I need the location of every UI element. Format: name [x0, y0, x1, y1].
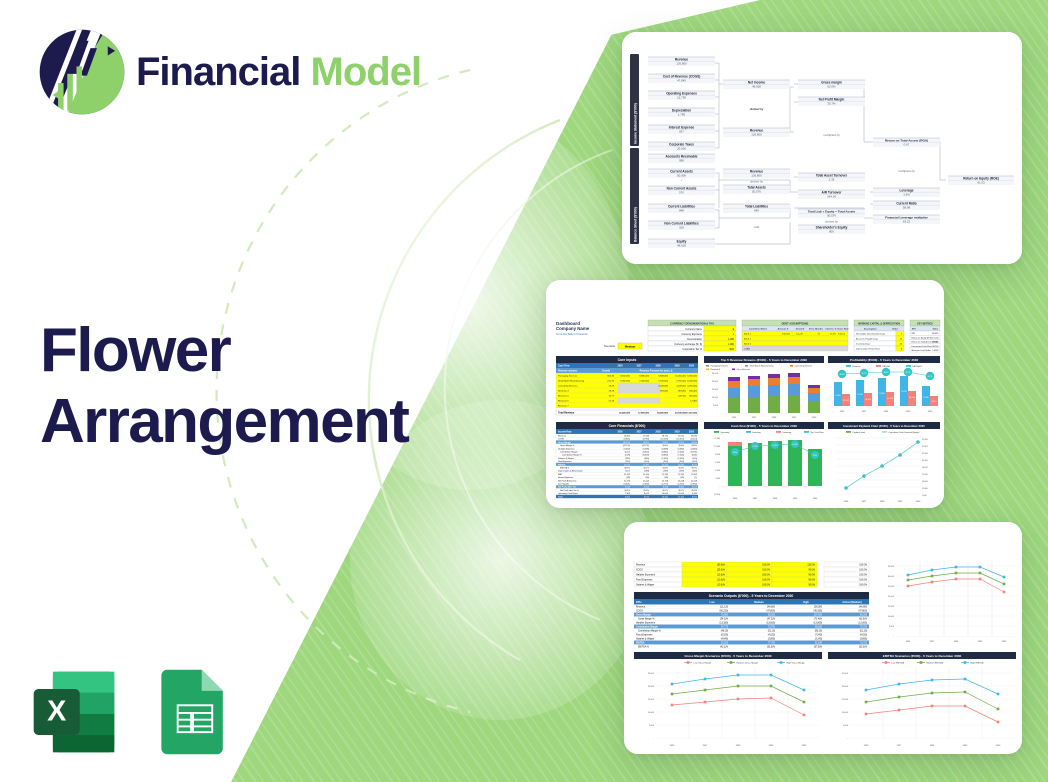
svg-text:Tax Payable: Tax Payable: [558, 484, 570, 486]
svg-text:(8,210): (8,210): [691, 439, 698, 441]
svg-text:11,218: 11,218: [691, 480, 698, 482]
svg-text:Investing: Investing: [753, 431, 761, 434]
svg-text:(73.4)%: (73.4)%: [814, 619, 822, 621]
svg-text:(45,290): (45,290): [813, 611, 822, 613]
svg-text:8,404: 8,404: [733, 452, 737, 454]
svg-text:25,000: 25,000: [712, 373, 719, 375]
svg-text:(38): (38): [680, 477, 684, 479]
svg-text:multiplied by: multiplied by: [898, 169, 915, 173]
svg-text:COGS: COGS: [636, 570, 643, 572]
excel-icon[interactable]: X: [26, 664, 122, 760]
svg-text:(2,302): (2,302): [643, 484, 650, 486]
svg-text:Term, Months: Term, Months: [809, 328, 824, 331]
svg-text:77,700: 77,700: [768, 643, 776, 645]
svg-text:31,000: 31,000: [922, 460, 928, 462]
svg-text:KEY METRICS: KEY METRICS: [917, 323, 933, 325]
svg-text:1,000: 1,000: [922, 495, 927, 497]
svg-text:10,209: 10,209: [792, 444, 797, 446]
svg-text:(8,680): (8,680): [662, 455, 669, 457]
svg-text:47,000: 47,000: [922, 446, 928, 448]
svg-text:Add: Add: [753, 225, 760, 229]
svg-text:58.98: 58.98: [903, 206, 911, 210]
svg-text:59.6%: 59.6%: [662, 442, 668, 444]
svg-text:High Gross Margin: High Gross Margin: [787, 662, 806, 665]
svg-text:(285): (285): [692, 471, 697, 473]
svg-text:20,110: 20,110: [901, 391, 906, 393]
svg-text:Total: Total: [558, 496, 563, 499]
svg-text:Revenue: Revenue: [636, 607, 646, 609]
svg-text:(10.0)%: (10.0)%: [717, 585, 725, 587]
svg-text:Gross Margin %: Gross Margin %: [638, 618, 654, 621]
svg-text:(60,230): (60,230): [719, 611, 728, 613]
svg-text:divided by: divided by: [750, 179, 764, 183]
svg-text:12,103: 12,103: [662, 464, 669, 466]
svg-text:9,680,000: 9,680,000: [639, 376, 650, 378]
svg-text:800: 800: [829, 230, 834, 234]
svg-text:26,000: 26,000: [922, 467, 928, 469]
svg-text:Payback point: Payback point: [853, 431, 866, 434]
svg-text:8,002: 8,002: [692, 497, 698, 499]
svg-text:(920): (920): [663, 461, 668, 463]
svg-text:43.0%: 43.0%: [691, 442, 697, 444]
svg-text:9,010: 9,010: [644, 497, 650, 499]
svg-text:Revenue 5: Revenue 5: [558, 396, 569, 398]
svg-text:Scenario Outputs ($'000) - 5 Y: Scenario Outputs ($'000) - 5 Years to De…: [709, 594, 794, 598]
svg-text:Receivable Denomination Days: Receivable Denomination Days: [856, 333, 885, 336]
svg-text:25,000: 25,000: [888, 586, 895, 588]
svg-text:10,000: 10,000: [842, 712, 849, 714]
svg-text:80,300: 80,300: [860, 615, 868, 617]
svg-text:52,005: 52,005: [721, 643, 729, 645]
svg-text:(7,004): (7,004): [678, 452, 685, 454]
svg-text:(41.1%): (41.1%): [623, 445, 630, 447]
svg-text:EBITDA %: EBITDA %: [638, 646, 649, 649]
svg-text:Inventory Days: Inventory Days: [856, 343, 870, 346]
svg-text:7,130,000: 7,130,000: [658, 381, 669, 383]
svg-text:63.22: 63.22: [903, 220, 911, 224]
svg-text:2027: 2027: [636, 366, 642, 368]
svg-text:(0,08): (0,08): [625, 455, 631, 457]
svg-text:144.24: 144.24: [827, 195, 836, 199]
svg-text:(8,01): (8,01): [692, 455, 698, 457]
svg-text:10,000: 10,000: [712, 397, 719, 399]
svg-text:11,170: 11,170: [624, 480, 631, 482]
svg-text:Gross Margin: Gross Margin: [636, 615, 651, 617]
svg-text:Low EBITDA: Low EBITDA: [892, 662, 905, 665]
svg-text:35.1%: 35.1%: [643, 468, 649, 470]
svg-text:36.7%: 36.7%: [662, 490, 668, 492]
svg-text:20,100,000: 20,100,000: [675, 413, 687, 415]
svg-text:1,785: 1,785: [678, 113, 686, 117]
svg-text:(13,060): (13,060): [858, 623, 867, 625]
svg-text:480,000: 480,000: [689, 396, 698, 398]
svg-text:(9,012): (9,012): [931, 401, 937, 403]
svg-text:-: -: [681, 118, 682, 121]
svg-text:(7,004): (7,004): [678, 455, 685, 457]
svg-text:8,012: 8,012: [692, 487, 698, 489]
svg-text:Net Cash Flow: Net Cash Flow: [811, 431, 825, 434]
svg-text:Small Batch Manufacturing: Small Batch Manufacturing: [558, 380, 585, 383]
svg-text:Variable Expenses: Variable Expenses: [558, 448, 575, 450]
svg-text:(4,020): (4,020): [768, 635, 776, 637]
svg-text:46,828: 46,828: [752, 85, 761, 89]
svg-text:100.0%: 100.0%: [859, 565, 867, 567]
svg-text:100,000: 100,000: [782, 334, 791, 336]
svg-text:(3,402): (3,402): [624, 448, 631, 450]
svg-text:7,302: 7,302: [625, 493, 631, 495]
svg-text:36.7%: 36.7%: [678, 490, 684, 492]
svg-text:(12,012): (12,012): [843, 400, 850, 402]
financial-ratio-tree-card[interactable]: Income Statement ($'000) Balance Sheet (…: [622, 32, 1022, 264]
svg-text:Revenue 7: Revenue 7: [558, 406, 569, 408]
svg-text:36.7%: 36.7%: [927, 376, 932, 378]
svg-text:(1,020): (1,020): [678, 458, 685, 460]
svg-text:Active (Medium): Active (Medium): [842, 601, 861, 604]
svg-text:949: 949: [754, 209, 759, 213]
svg-text:Income Statement ($'000): Income Statement ($'000): [634, 103, 638, 144]
svg-text:(217): (217): [625, 471, 630, 473]
svg-text:570: 570: [679, 191, 684, 195]
svg-text:(188): (188): [644, 471, 649, 473]
svg-text:16,000: 16,000: [922, 481, 928, 483]
svg-text:Low Gross Margin: Low Gross Margin: [694, 662, 713, 665]
svg-text:11,228: 11,228: [678, 480, 685, 482]
svg-text:(2,520): (2,520): [678, 484, 685, 486]
financial-dashboard-card[interactable]: Dashboard Company Name Go to the Table o…: [546, 280, 944, 508]
svg-text:(56,19): (56,19): [815, 631, 823, 633]
svg-text:Net Profit Before Tax: Net Profit Before Tax: [558, 479, 576, 482]
svg-text:20,026: 20,026: [677, 147, 686, 151]
svg-text:5,000: 5,000: [713, 405, 719, 407]
svg-text:CURRENCY DENOMINATION & TAX: CURRENCY DENOMINATION & TAX: [670, 321, 714, 325]
svg-text:6,000: 6,000: [715, 462, 720, 464]
svg-text:Profitability ($'000) - 5 Year: Profitability ($'000) - 5 Years to Decem…: [850, 358, 919, 362]
svg-text:8,013: 8,013: [625, 487, 631, 489]
svg-text:Small Batch Manufacturing: Small Batch Manufacturing: [750, 365, 774, 368]
svg-text:(13,060): (13,060): [766, 623, 775, 625]
svg-text:(8,624): (8,624): [643, 452, 650, 454]
svg-text:100.0%: 100.0%: [762, 580, 770, 582]
svg-text:(51,10): (51,10): [768, 631, 776, 633]
svg-text:15,000: 15,000: [888, 606, 895, 608]
svg-text:11,802: 11,802: [691, 474, 698, 476]
poster-canvas: Financial Model Flower Arrangement X: [0, 0, 1048, 782]
svg-text:100.0%: 100.0%: [762, 570, 770, 572]
svg-text:Fixed Expenses: Fixed Expenses: [636, 635, 653, 637]
svg-text:35,000: 35,000: [888, 566, 895, 568]
svg-text:35.9%: 35.9%: [905, 372, 910, 374]
svg-text:Medium: Medium: [754, 601, 764, 604]
svg-text:90.0%: 90.0%: [808, 570, 815, 572]
svg-text:(47,800): (47,800): [858, 611, 867, 613]
svg-text:WORKING CAPITAL & DEPRECIATION: WORKING CAPITAL & DEPRECIATION: [858, 322, 900, 325]
svg-text:2029: 2029: [674, 432, 680, 434]
svg-text:12,900: 12,900: [690, 401, 697, 403]
svg-text:17,560: 17,560: [643, 436, 650, 438]
svg-text:49,629: 49,629: [677, 244, 686, 248]
svg-text:5,000: 5,000: [889, 626, 895, 628]
svg-text:Amount, $: Amount, $: [778, 328, 789, 331]
svg-text:21,000: 21,000: [922, 474, 928, 476]
svg-text:(1,020): (1,020): [662, 458, 669, 460]
svg-text:Fixed Expenses: Fixed Expenses: [636, 580, 653, 582]
svg-text:(220): (220): [625, 461, 630, 463]
svg-text:61.03: 61.03: [933, 337, 939, 339]
svg-text:16,400,000: 16,400,000: [619, 412, 631, 415]
svg-text:17,800,000: 17,800,000: [638, 413, 650, 415]
brand-wordmark: Financial Model: [136, 52, 421, 92]
svg-text:34.0%: 34.0%: [662, 468, 668, 470]
svg-text:126,800: 126,800: [751, 133, 762, 137]
svg-text:Interest, %: Interest, %: [825, 328, 836, 331]
svg-text:(54.1)%: (54.1)%: [720, 619, 728, 621]
svg-text:2026: 2026: [617, 366, 623, 368]
svg-text:Depreciation Period Years: Depreciation Period Years: [856, 348, 880, 351]
svg-text:(3,382): (3,382): [678, 448, 685, 450]
svg-text:Low: Low: [710, 601, 715, 604]
svg-text:Gross Margin %: Gross Margin %: [560, 445, 575, 447]
svg-text:2029: 2029: [674, 366, 680, 368]
svg-text:LOAN: LOAN: [744, 348, 750, 351]
svg-text:1,0562: 1,0562: [932, 350, 939, 352]
svg-text:43.0%: 43.0%: [691, 445, 697, 447]
svg-text:903,000: 903,000: [660, 391, 669, 393]
svg-text:Bond 2: Bond 2: [744, 339, 752, 341]
svg-text:10,701: 10,701: [752, 446, 757, 448]
svg-text:5,000: 5,000: [843, 725, 849, 727]
svg-text:75,700: 75,700: [860, 643, 868, 645]
svg-text:(1): (1): [695, 477, 698, 479]
svg-text:-: -: [681, 135, 682, 138]
svg-text:5,000: 5,000: [649, 725, 655, 727]
svg-text:Revenue: Revenue: [636, 565, 646, 567]
svg-text:EBITDA: EBITDA: [883, 365, 891, 368]
svg-text:18,750: 18,750: [662, 436, 669, 438]
svg-text:Revenue 4: Revenue 4: [558, 391, 569, 393]
svg-text:35.1%: 35.1%: [861, 373, 866, 375]
svg-text:Salaries & Wages: Salaries & Wages: [558, 458, 574, 460]
svg-text:(4,020): (4,020): [860, 635, 868, 637]
svg-text:Company Name: Company Name: [556, 326, 590, 331]
svg-text:Consulting Services: Consulting Services: [558, 385, 578, 388]
svg-text:EBITDA %: EBITDA %: [560, 467, 570, 470]
svg-text:(40.0%): (40.0%): [623, 442, 630, 444]
svg-text:(980): (980): [644, 458, 649, 460]
svg-text:8,404: 8,404: [625, 497, 631, 499]
svg-text:17,560: 17,560: [857, 394, 862, 396]
svg-text:Revenue: Revenue: [853, 366, 862, 368]
scenario-analysis-card[interactable]: RevenueCOGS Variable ExpensesFixed Expen…: [624, 522, 1022, 754]
svg-text:X: X: [47, 696, 66, 728]
svg-text:10.0%: 10.0%: [830, 334, 836, 336]
svg-text:(220): (220): [644, 461, 649, 463]
svg-text:80,300: 80,300: [768, 615, 776, 617]
svg-text:Discounted Cash Flow: Discounted Cash Flow: [912, 345, 933, 348]
svg-text:16,400: 16,400: [624, 436, 631, 438]
svg-text:COGS: COGS: [558, 439, 565, 441]
svg-text:2030: 2030: [689, 366, 695, 368]
svg-text:(42,1)%: (42,1)%: [720, 647, 728, 649]
svg-text:100.0%: 100.0%: [762, 565, 770, 567]
svg-text:(52,0)%: (52,0)%: [767, 647, 775, 649]
svg-text:EBITDA Scenarios ($'000) - 5 Y: EBITDA Scenarios ($'000) - 5 Years to De…: [883, 654, 962, 658]
svg-text:110.0%: 110.0%: [807, 565, 815, 567]
svg-text:11,212: 11,212: [643, 480, 650, 482]
svg-text:(3,001): (3,001): [624, 484, 631, 486]
svg-text:20,000: 20,000: [842, 686, 849, 688]
google-sheets-icon[interactable]: [146, 664, 242, 760]
svg-text:High: High: [803, 601, 809, 604]
svg-text:Contribution Margin: Contribution Margin: [560, 451, 577, 454]
svg-text:45.6%: 45.6%: [662, 445, 668, 447]
svg-text:10,000: 10,000: [648, 712, 655, 714]
svg-text:IRR: IRR: [912, 333, 916, 335]
svg-text:126,800: 126,800: [676, 62, 687, 66]
svg-text:(57,0)%: (57,0)%: [814, 647, 822, 649]
svg-text:High EBITDA: High EBITDA: [971, 662, 985, 665]
svg-text:146,800: 146,800: [859, 607, 868, 609]
svg-text:60.1%: 60.1%: [643, 442, 649, 444]
svg-text:(3,698): (3,698): [662, 448, 669, 450]
svg-text:KPI: KPI: [912, 329, 916, 331]
svg-text:11,150: 11,150: [643, 474, 650, 476]
svg-text:Operating Cash Flows: Operating Cash Flows: [558, 492, 578, 495]
svg-text:Other Revenue: Other Revenue: [737, 368, 751, 371]
svg-text:(3,280): (3,280): [691, 448, 698, 450]
svg-text:Revenue: Revenue: [558, 436, 567, 438]
svg-text:131,130: 131,130: [720, 607, 729, 609]
svg-text:(8,680): (8,680): [662, 452, 669, 454]
svg-text:Packaging Services: Packaging Services: [558, 375, 578, 378]
svg-text:11,290: 11,290: [678, 474, 685, 476]
svg-text:35.5%: 35.5%: [643, 490, 649, 492]
dashboard-graphic: Dashboard Company Name Go to the Table o…: [546, 280, 944, 508]
svg-text:25,000: 25,000: [648, 673, 655, 675]
svg-text:(920): (920): [692, 461, 697, 463]
svg-text:(920): (920): [679, 461, 684, 463]
svg-text:Interest: Interest: [838, 333, 846, 336]
svg-text:2028: 2028: [655, 366, 661, 368]
svg-text:Bond 3: Bond 3: [744, 344, 752, 346]
svg-text:22.18: 22.18: [609, 401, 615, 403]
svg-text:20,000: 20,000: [648, 686, 655, 688]
svg-text:47,840: 47,840: [677, 79, 686, 83]
svg-text:11,312: 11,312: [624, 474, 631, 476]
svg-text:(13,060): (13,060): [813, 623, 822, 625]
svg-text:57,770: 57,770: [721, 627, 729, 629]
svg-text:Gross Margin Scenarios ($'000): Gross Margin Scenarios ($'000) - 5 Years…: [684, 654, 771, 658]
svg-text:11,030: 11,030: [678, 464, 685, 466]
svg-text:EBIT: EBIT: [558, 474, 563, 476]
svg-text:1,000: 1,000: [728, 338, 735, 341]
svg-text:12,012: 12,012: [624, 464, 631, 466]
svg-text:(289): (289): [663, 471, 668, 473]
svg-text:100.0%: 100.0%: [859, 585, 867, 587]
svg-text:8,450,000: 8,450,000: [620, 376, 631, 378]
svg-text:(63.0)%: (63.0)%: [859, 619, 867, 621]
svg-text:75,750: 75,750: [860, 627, 868, 629]
svg-text:45.6%: 45.6%: [678, 445, 684, 447]
svg-text:11,100: 11,100: [678, 497, 685, 499]
svg-text:(3,298): (3,298): [643, 448, 650, 450]
svg-text:8,000: 8,000: [715, 454, 720, 456]
svg-text:(11,301): (11,301): [865, 399, 872, 401]
svg-text:Revenue Forecast for years, $: Revenue Forecast for years, $: [640, 370, 673, 373]
svg-text:35.9%: 35.9%: [678, 468, 684, 470]
svg-text:500,000: 500,000: [689, 391, 698, 393]
svg-text:(2,932): (2,932): [691, 484, 698, 486]
svg-text:91,630: 91,630: [815, 643, 823, 645]
svg-text:(2,770): (2,770): [662, 484, 669, 486]
svg-text:(10,920): (10,920): [677, 439, 685, 441]
svg-text:Revenue 4: Revenue 4: [711, 369, 722, 371]
svg-text:20,000: 20,000: [712, 381, 719, 383]
svg-text:75,750: 75,750: [768, 627, 776, 629]
svg-text:Financing: Financing: [783, 432, 792, 434]
svg-text:(7,040): (7,040): [815, 635, 823, 637]
svg-text:(38): (38): [664, 477, 668, 479]
svg-text:(48,19): (48,19): [721, 631, 729, 633]
svg-text:(2,000): (2,000): [714, 494, 720, 496]
svg-text:(3,140): (3,140): [815, 639, 823, 641]
svg-text:(8,701): (8,701): [691, 452, 698, 454]
svg-text:36.7%: 36.7%: [691, 468, 697, 470]
svg-text:4,208,000: 4,208,000: [676, 386, 687, 388]
svg-text:15,000: 15,000: [842, 699, 849, 701]
svg-text:10,050,000: 10,050,000: [675, 376, 687, 378]
svg-text:37,000: 37,000: [922, 453, 928, 455]
svg-text:(47.2%): (47.2%): [642, 445, 649, 447]
svg-text:90.0%: 90.0%: [808, 585, 815, 587]
svg-text:8,340: 8,340: [692, 493, 698, 495]
svg-text:20,000: 20,000: [888, 596, 895, 598]
svg-text:Bond 1: Bond 1: [744, 334, 752, 336]
svg-text:Scenario: Scenario: [604, 344, 615, 348]
svg-text:(11,030): (11,030): [909, 397, 916, 399]
svg-text:16,400: 16,400: [835, 395, 840, 397]
svg-text:(25.0)%: (25.0)%: [717, 570, 725, 572]
svg-text:25,000: 25,000: [842, 673, 849, 675]
svg-text:Granted: Granted: [796, 328, 805, 331]
svg-text:4,000: 4,000: [715, 470, 720, 472]
svg-text:7,250,000: 7,250,000: [676, 381, 687, 383]
svg-text:Cumulative Cash Invested (Equi: Cumulative Cash Invested (Equity): [889, 431, 920, 434]
svg-text:(8,344): (8,344): [624, 439, 631, 441]
svg-text:Minimum Cash Buffer: Minimum Cash Buffer: [912, 350, 932, 352]
svg-text:EBITDA %: EBITDA %: [913, 365, 923, 368]
svg-text:918,000: 918,000: [678, 391, 687, 393]
svg-text:Revenue streams: Revenue streams: [558, 370, 578, 373]
svg-text:208,500: 208,500: [678, 396, 687, 398]
svg-text:90.0%: 90.0%: [808, 575, 815, 577]
svg-text:Go to the Table of Contents: Go to the Table of Contents: [556, 332, 588, 336]
svg-text:2030: 2030: [689, 432, 695, 434]
svg-text:16.77: 16.77: [609, 396, 615, 398]
svg-text:11,000: 11,000: [922, 488, 928, 490]
svg-text:Medium EBITDA: Medium EBITDA: [927, 662, 944, 665]
svg-text:8,802: 8,802: [679, 487, 685, 489]
svg-text:Interest Expense: Interest Expense: [558, 476, 574, 479]
svg-text:divided by: divided by: [750, 107, 764, 111]
svg-text:2,000: 2,000: [715, 478, 720, 480]
svg-text:(10.0)%: (10.0)%: [717, 575, 725, 577]
svg-text:Salaries & Wages: Salaries & Wages: [636, 584, 655, 587]
svg-text:212.75: 212.75: [607, 381, 614, 383]
svg-text:16.28: 16.28: [609, 386, 615, 388]
svg-text:Packaging Services: Packaging Services: [711, 366, 729, 368]
svg-text:6,920,000: 6,920,000: [687, 376, 698, 378]
svg-text:1.9%: 1.9%: [903, 193, 910, 197]
